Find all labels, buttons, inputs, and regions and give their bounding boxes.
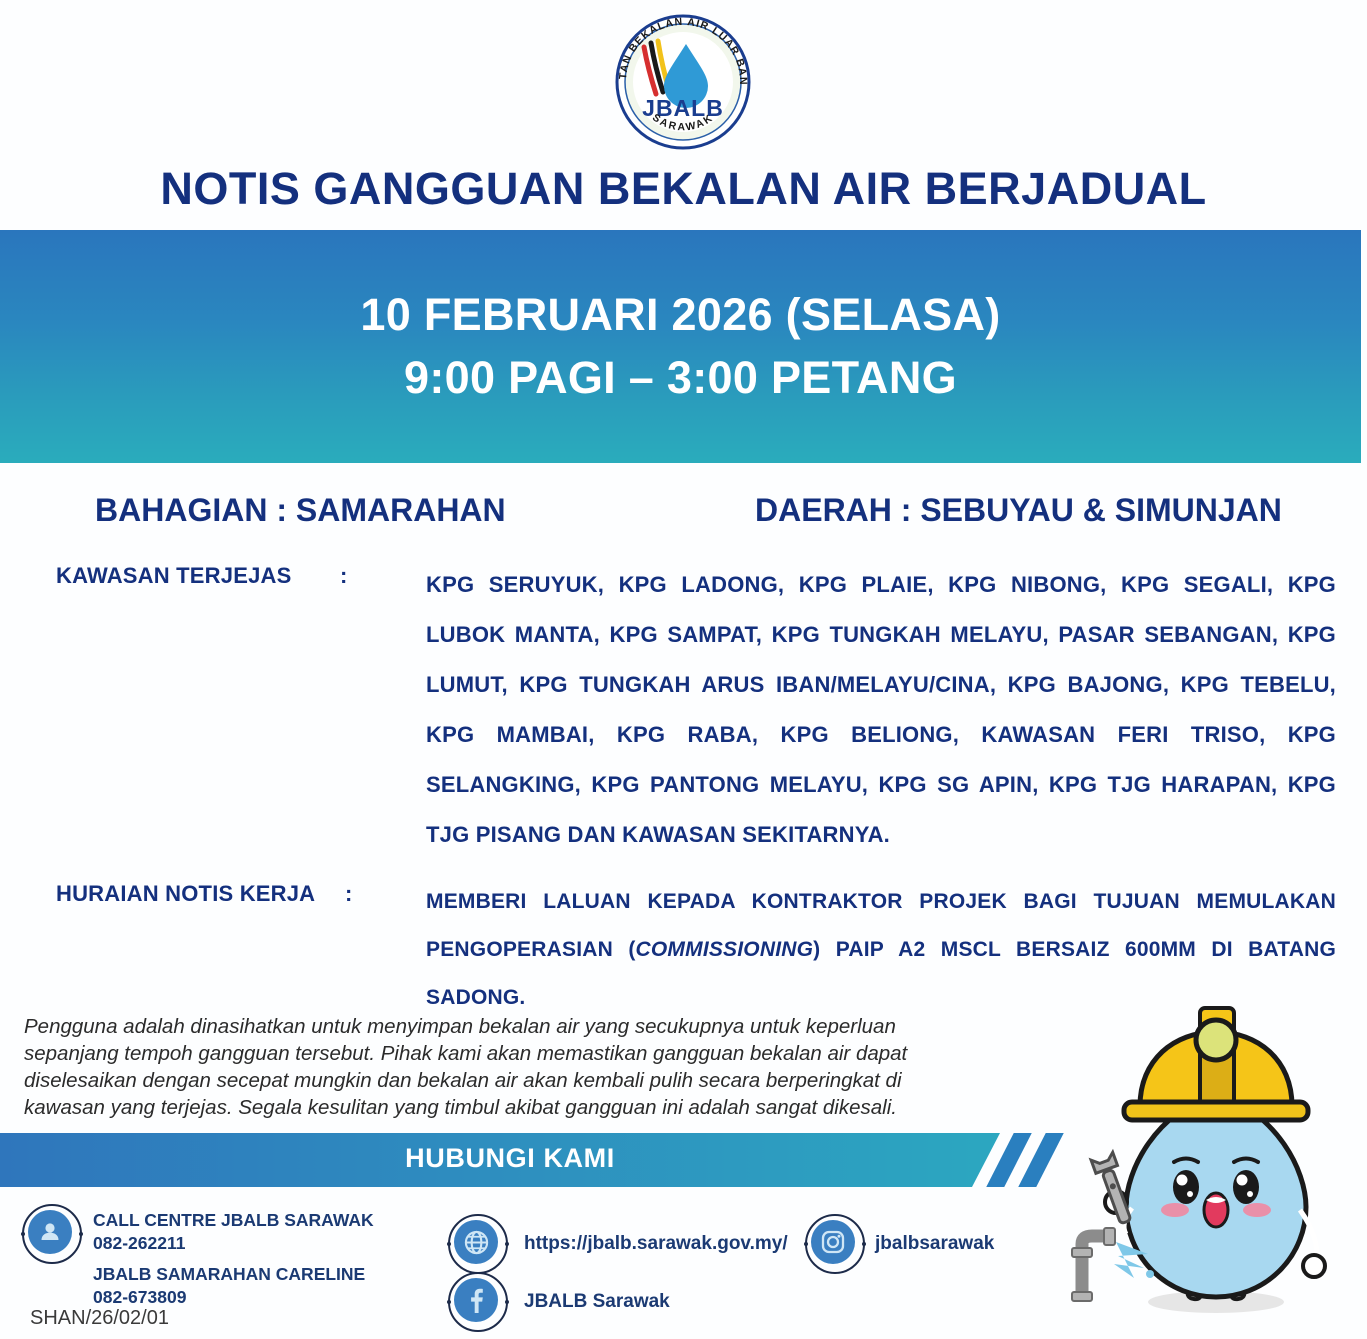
page-title: NOTIS GANGGUAN BEKALAN AIR BERJADUAL — [0, 163, 1367, 215]
ring-dot-right — [505, 1300, 509, 1304]
ring-dot-right — [862, 1242, 866, 1246]
reference-code: SHAN/26/02/01 — [30, 1307, 169, 1330]
person-icon — [28, 1210, 72, 1254]
notice-date: 10 FEBRUARI 2026 (SELASA) — [360, 284, 1000, 346]
notice-time: 9:00 PAGI – 3:00 PETANG — [404, 347, 957, 409]
instagram-icon[interactable] — [811, 1220, 855, 1264]
jbalb-logo: JBALB JABATAN BEKALAN AIR LUAR BANDAR SA… — [608, 14, 758, 150]
advisory-paragraph: Pengguna adalah dinasihatkan untuk menyi… — [24, 1013, 974, 1121]
call-centre-number[interactable]: 082-262211 — [93, 1231, 185, 1255]
ring-dot-left — [447, 1300, 451, 1304]
work-text-italic: COMMISSIONING — [636, 938, 814, 961]
affected-areas-list: KPG SERUYUK, KPG LADONG, KPG PLAIE, KPG … — [426, 560, 1336, 860]
affected-areas-colon: : — [340, 563, 347, 589]
notice-page: JBALB JABATAN BEKALAN AIR LUAR BANDAR SA… — [0, 0, 1367, 1338]
division-label: BAHAGIAN : SAMARAHAN — [95, 492, 506, 529]
district-label: DAERAH : SEBUYAU & SIMUNJAN — [755, 492, 1282, 529]
division-district-row: BAHAGIAN : SAMARAHAN DAERAH : SEBUYAU & … — [0, 492, 1367, 532]
call-centre-name: CALL CENTRE JBALB SARAWAK — [93, 1208, 374, 1232]
ring-dot-left — [447, 1242, 451, 1246]
ring-dot-left — [804, 1242, 808, 1246]
facebook-icon[interactable] — [454, 1278, 498, 1322]
water-droplet-worker-mascot — [1048, 1002, 1364, 1334]
instagram-handle[interactable]: jbalbsarawak — [875, 1232, 994, 1256]
ring-dot-left — [21, 1232, 25, 1236]
careline-number[interactable]: 082-673809 — [93, 1285, 186, 1309]
careline-name: JBALB SAMARAHAN CARELINE — [93, 1262, 365, 1286]
ring-dot-right — [505, 1242, 509, 1246]
affected-areas-label: KAWASAN TERJEJAS — [56, 563, 291, 589]
ring-dot-right — [79, 1232, 83, 1236]
work-description-label: HURAIAN NOTIS KERJA — [56, 881, 315, 907]
website-link[interactable]: https://jbalb.sarawak.gov.my/ — [524, 1232, 788, 1256]
work-description-colon: : — [345, 881, 352, 907]
work-description-text: MEMBERI LALUAN KEPADA KONTRAKTOR PROJEK … — [426, 878, 1336, 1022]
facebook-handle[interactable]: JBALB Sarawak — [524, 1290, 670, 1314]
globe-icon[interactable] — [454, 1220, 498, 1264]
contact-banner-label: HUBUNGI KAMI — [0, 1143, 1020, 1174]
date-time-banner: 10 FEBRUARI 2026 (SELASA) 9:00 PAGI – 3:… — [0, 230, 1361, 463]
